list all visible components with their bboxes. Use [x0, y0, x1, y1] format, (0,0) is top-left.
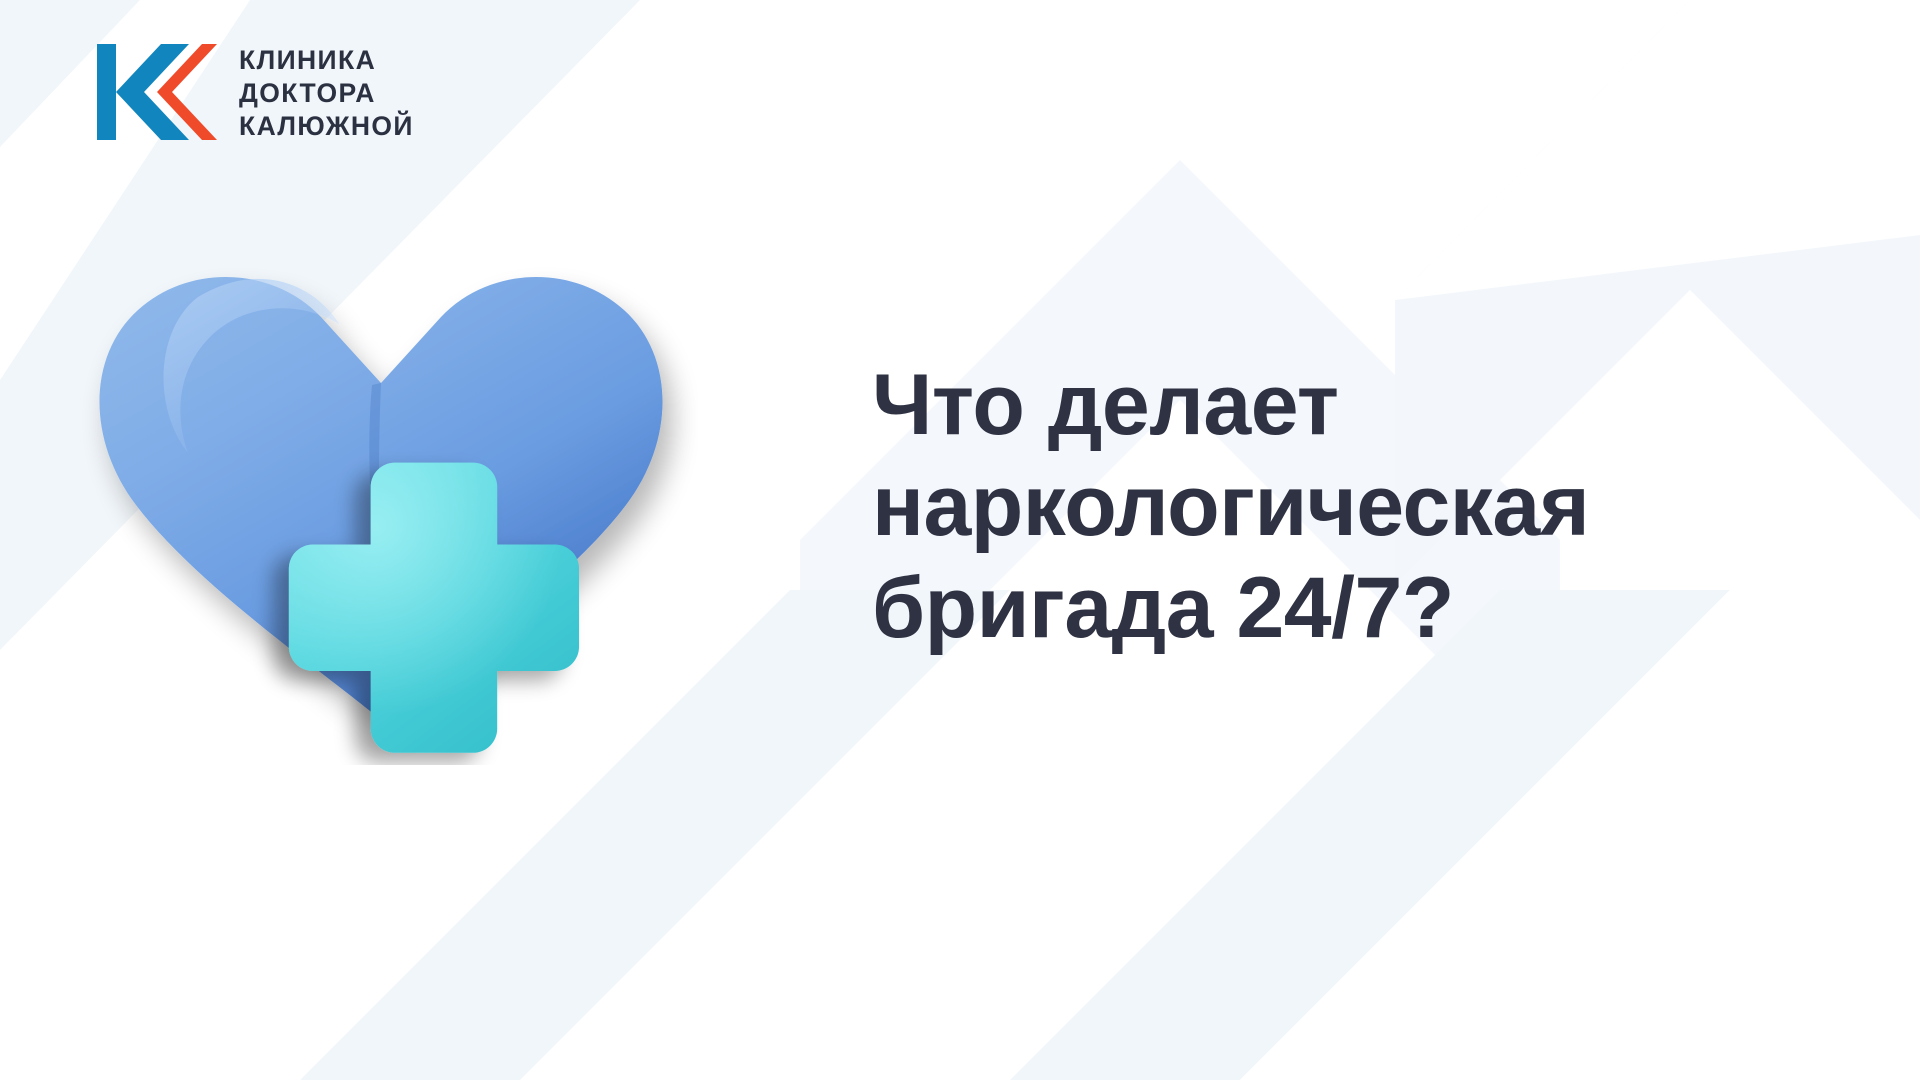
slide-canvas: КЛИНИКА ДОКТОРА КАЛЮЖНОЙ: [0, 0, 1920, 1080]
brand-name-line-2: ДОКТОРА: [239, 80, 414, 108]
brand-name: КЛИНИКА ДОКТОРА КАЛЮЖНОЙ: [239, 43, 414, 140]
kk-double-chevron-logo-icon: [95, 36, 217, 148]
page-title: Что делает наркологическая бригада 24/7?: [872, 355, 1702, 659]
heart-with-medical-cross-illustration: [78, 205, 698, 765]
headline-line-2: наркологическая: [872, 456, 1702, 557]
brand-name-line-1: КЛИНИКА: [239, 47, 414, 75]
headline-line-3: бригада 24/7?: [872, 558, 1702, 659]
headline-line-1: Что делает: [872, 355, 1702, 456]
brand-logo[interactable]: КЛИНИКА ДОКТОРА КАЛЮЖНОЙ: [95, 36, 414, 148]
brand-name-line-3: КАЛЮЖНОЙ: [239, 113, 414, 141]
